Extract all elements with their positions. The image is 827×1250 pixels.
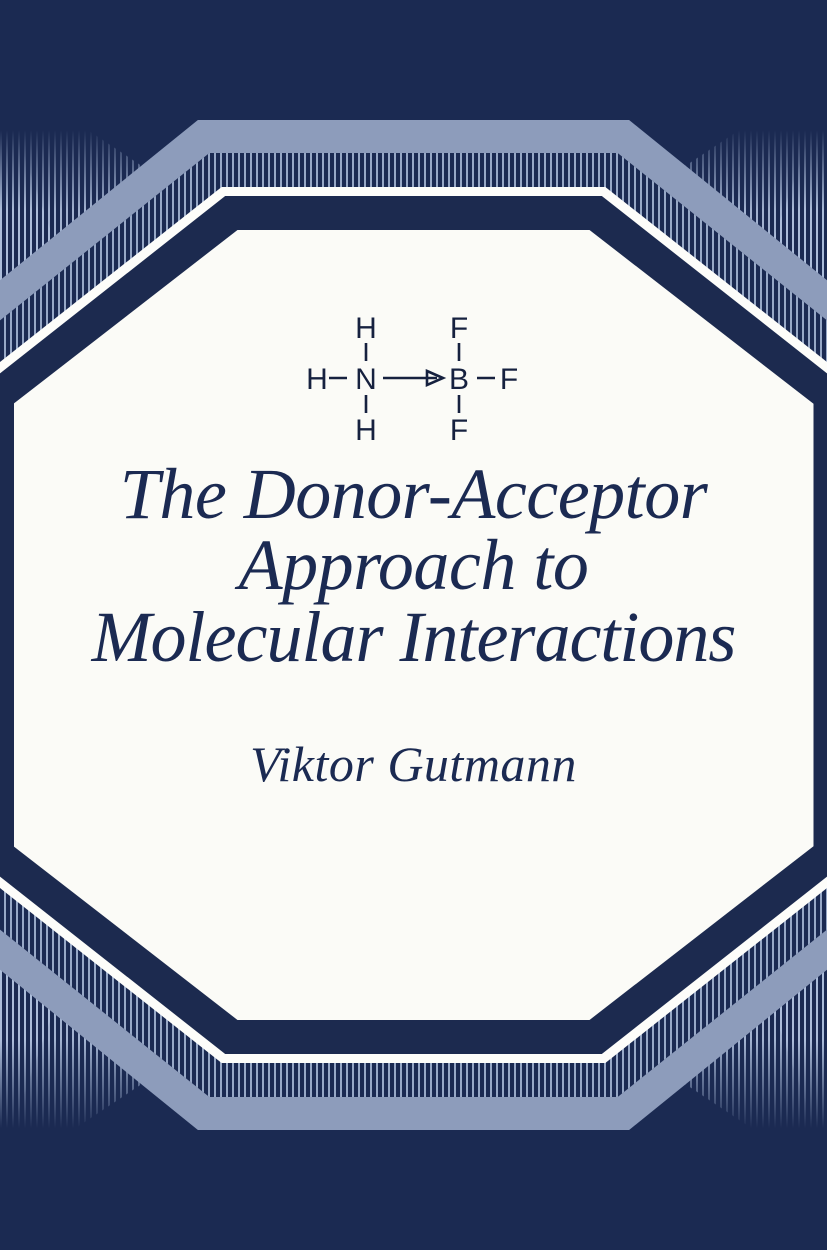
book-cover: H H H N B F F F The Donor-Acceptor Appro… [0,0,827,1250]
cover-content: H H H N B F F F The Donor-Acceptor Appro… [19,235,809,1015]
atom-label-h-bottom: H [355,414,377,443]
atom-label-f-bottom: F [449,414,467,443]
title-line-2: Approach to [19,530,809,601]
atom-label-h-top: H [355,313,377,345]
atom-label-h-left: H [306,363,328,396]
atom-label-n: N [355,363,377,396]
book-title: The Donor-Acceptor Approach to Molecular… [19,459,809,673]
atom-label-f-right: F [499,363,517,396]
author-name: Viktor Gutmann [250,735,577,793]
atom-label-b: B [448,363,468,396]
title-line-1: The Donor-Acceptor [19,459,809,530]
atom-label-f-top: F [449,313,467,345]
molecule-diagram-icon: H H H N B F F F [299,313,529,443]
title-line-3: Molecular Interactions [19,602,809,673]
